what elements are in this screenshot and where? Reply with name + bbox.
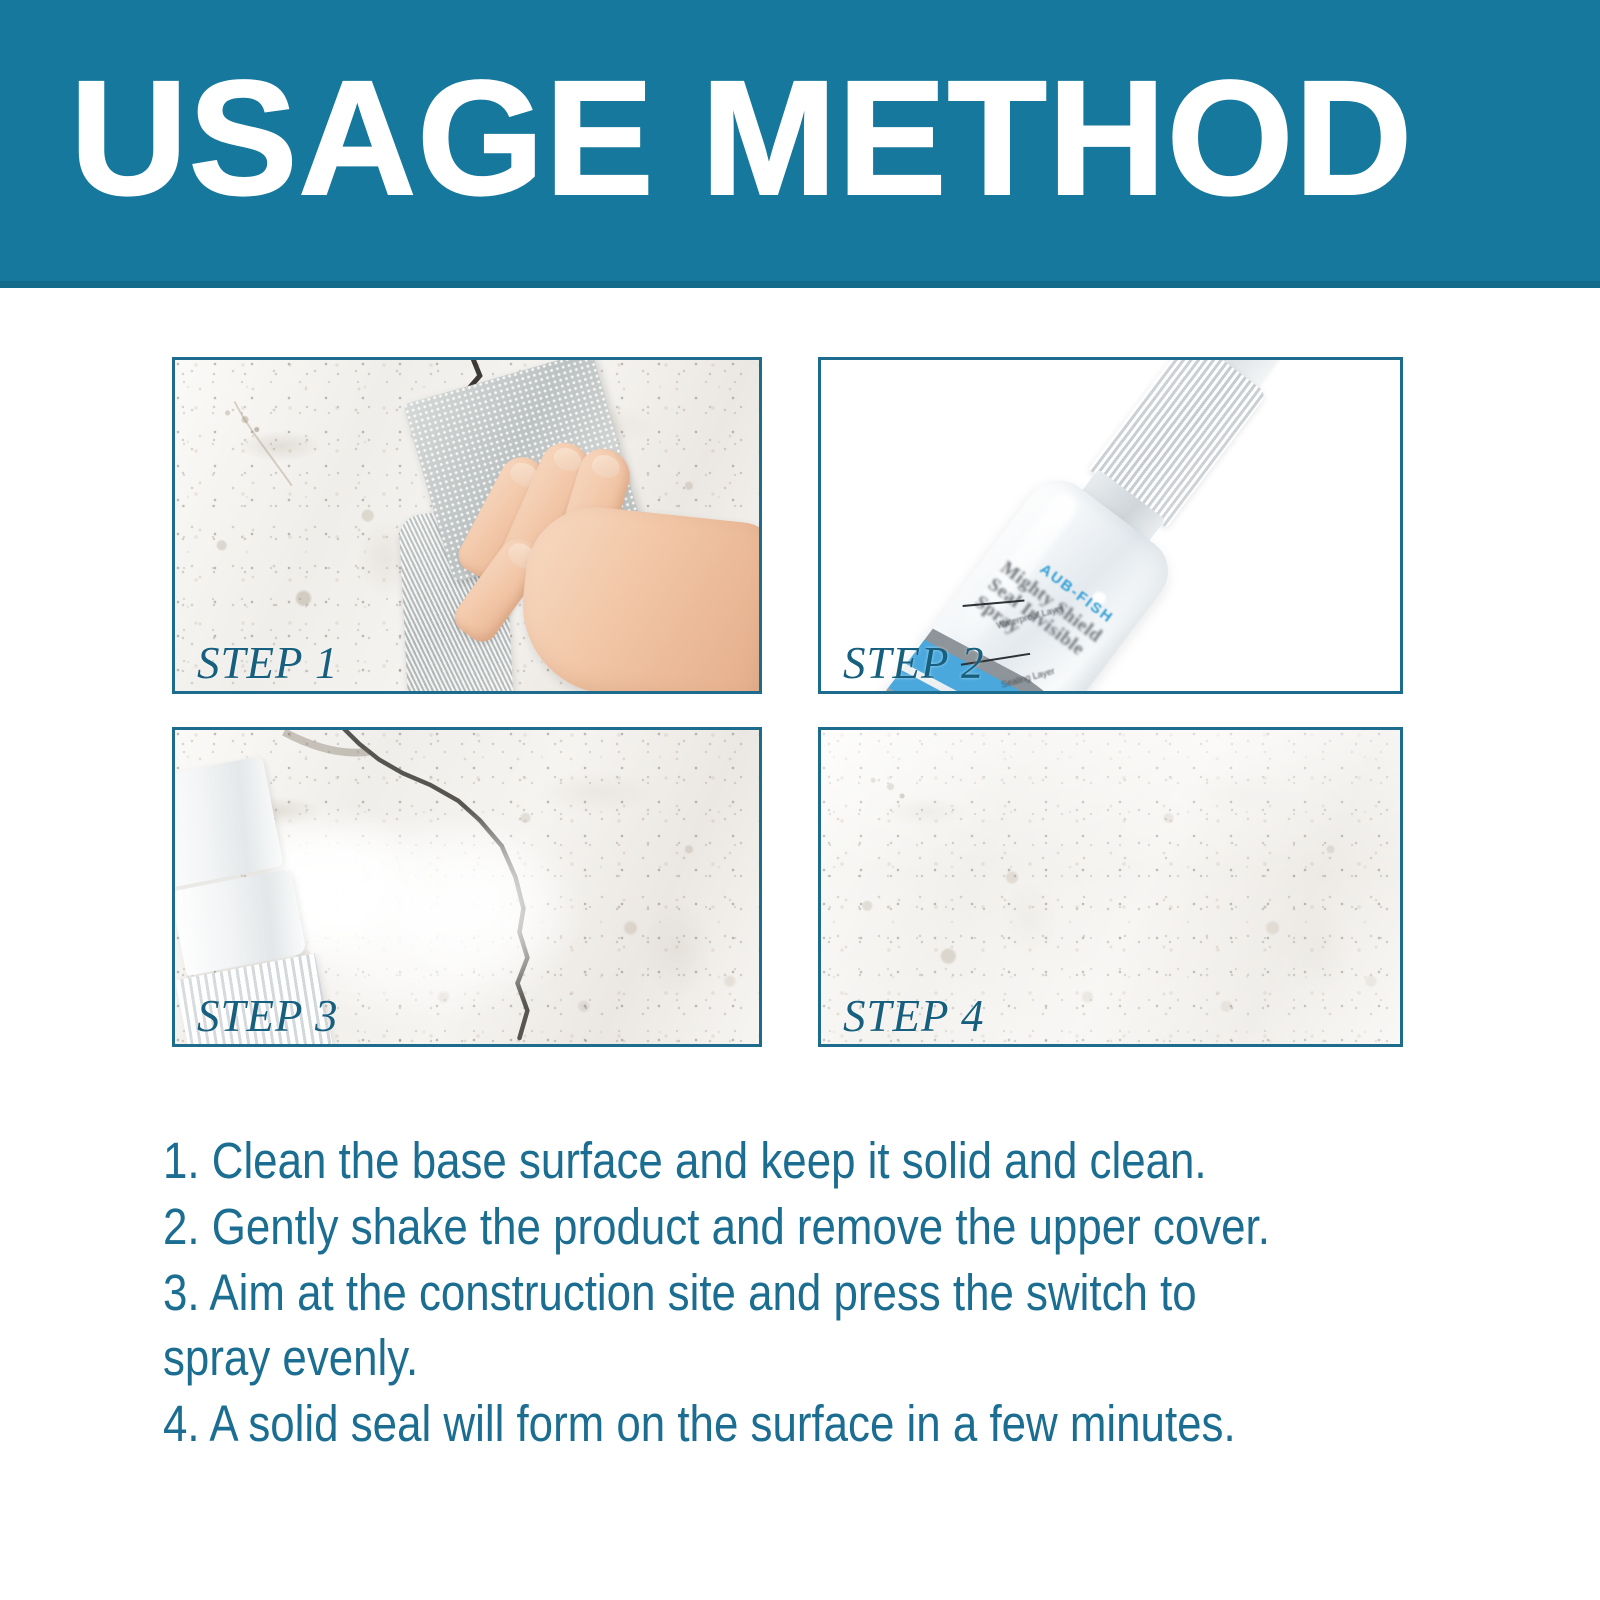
page-title: USAGE METHOD bbox=[70, 56, 1413, 219]
instruction-item-2: 2. Gently shake the product and remove t… bbox=[163, 1194, 1281, 1260]
palm bbox=[514, 500, 762, 694]
step-panel-4[interactable]: STEP 4 bbox=[818, 727, 1403, 1047]
hand bbox=[445, 395, 762, 694]
fingernail bbox=[589, 452, 622, 481]
step-panel-2[interactable]: AUB-FISH Mighty Shield Seal Invisible Sp… bbox=[818, 357, 1403, 694]
step-label-3: STEP 3 bbox=[197, 990, 338, 1042]
step-label-4: STEP 4 bbox=[843, 990, 984, 1042]
step-label-1: STEP 1 bbox=[197, 637, 338, 689]
header-banner: USAGE METHOD bbox=[0, 0, 1600, 288]
step-label-2: STEP 2 bbox=[843, 637, 984, 689]
instruction-item-1: 1. Clean the base surface and keep it so… bbox=[163, 1128, 1281, 1194]
step-panel-1[interactable]: STEP 1 bbox=[172, 357, 762, 694]
instruction-list: 1. Clean the base surface and keep it so… bbox=[163, 1128, 1281, 1457]
nozzle-upper-section bbox=[172, 756, 284, 888]
instruction-item-3: 3. Aim at the construction site and pres… bbox=[163, 1260, 1315, 1392]
step-panel-3[interactable]: STEP 3 bbox=[172, 727, 762, 1047]
step-panel-grid: STEP 1 AUB-FISH Mighty Shield Seal Invis… bbox=[172, 357, 1403, 1047]
instruction-item-4: 4. A solid seal will form on the surface… bbox=[163, 1391, 1281, 1457]
